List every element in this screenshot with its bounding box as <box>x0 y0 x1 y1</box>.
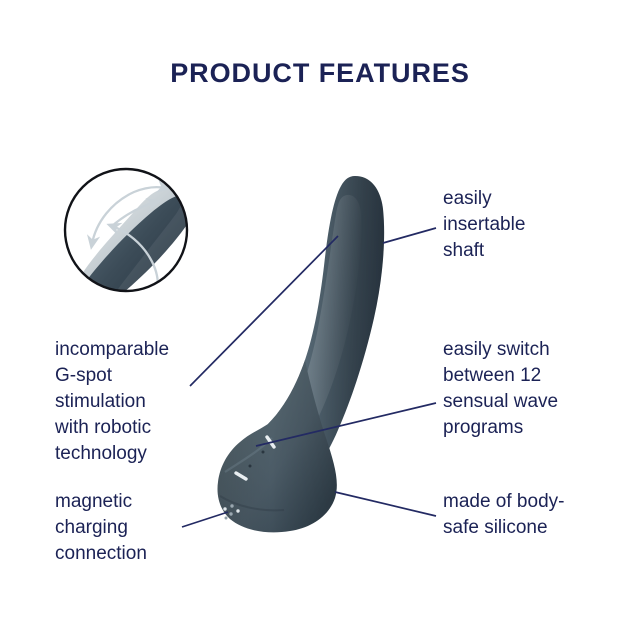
callout-insertable-shaft: easily insertable shaft <box>443 186 525 264</box>
callout-gspot-stimulation: incomparable G-spot stimulation with rob… <box>55 337 169 467</box>
callout-switch-programs: easily switch between 12 sensual wave pr… <box>443 337 558 441</box>
infographic-canvas: PRODUCT FEATURES <box>0 0 640 640</box>
inset-contents <box>75 187 193 315</box>
callout-magnetic-charging: magnetic charging connection <box>55 489 147 567</box>
callout-body-safe-silicone: made of body- safe silicone <box>443 489 564 541</box>
